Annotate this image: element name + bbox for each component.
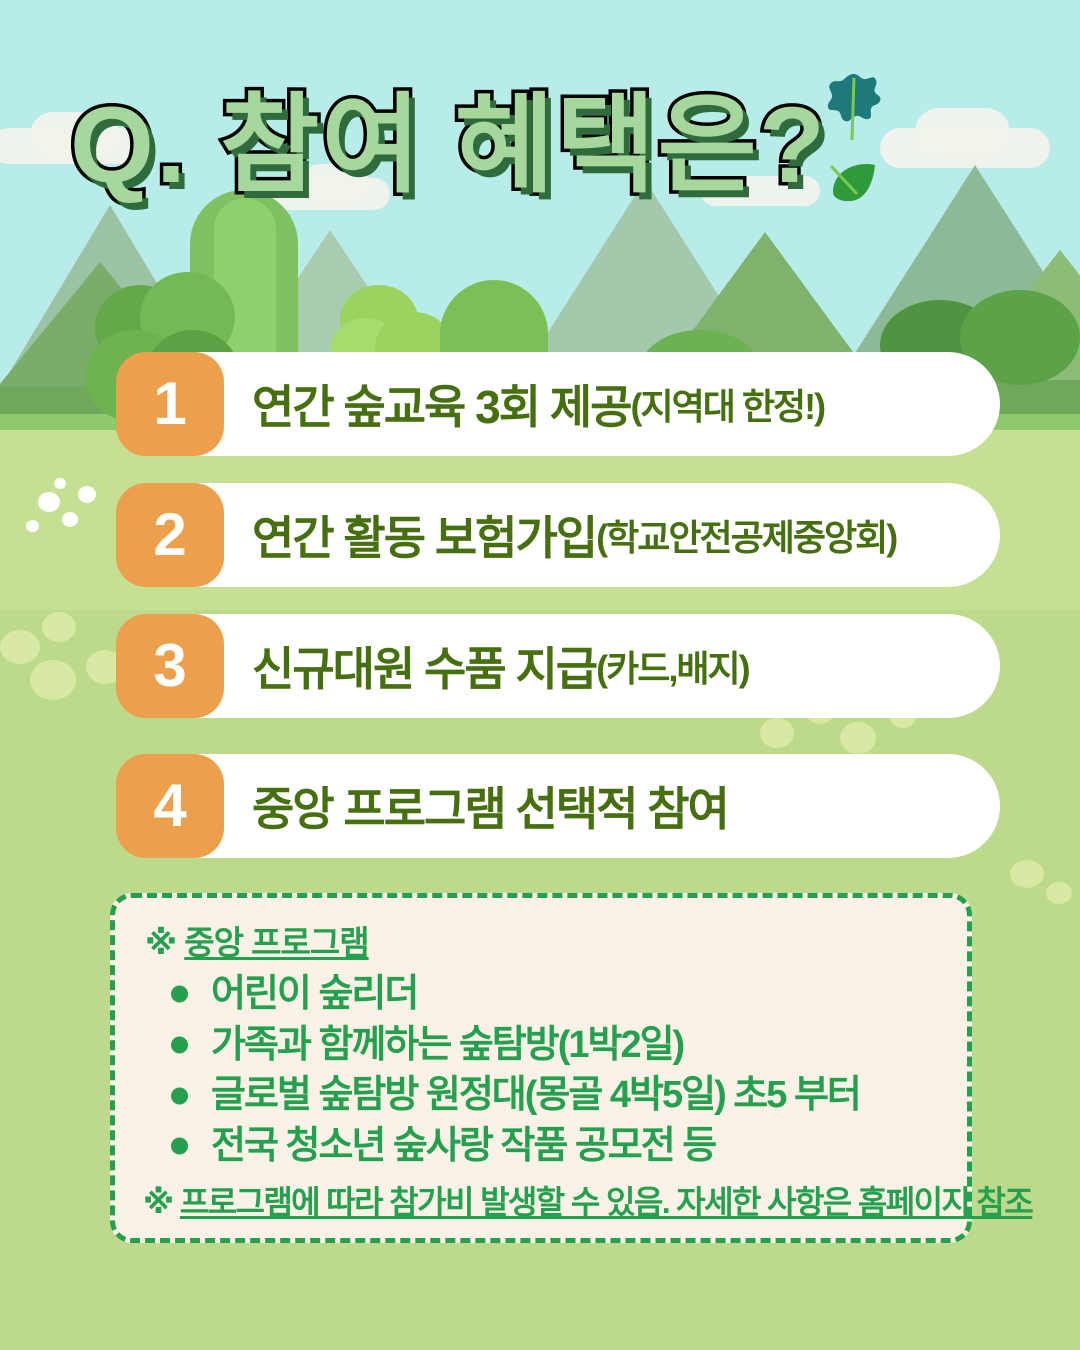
small-leaf-icon xyxy=(823,152,881,204)
list-item: 어린이 숲리더 xyxy=(167,970,941,1019)
list-item-label: 어린이 숲리더 xyxy=(211,973,417,1015)
benefit-sub-text: (지역대 한정!) xyxy=(630,378,824,430)
benefit-number-badge: 3 xyxy=(116,614,224,718)
list-item-label: 전국 청소년 숲사랑 작품 공모전 등 xyxy=(211,1125,715,1167)
note-heading-text: 중앙 프로그램 xyxy=(184,924,368,961)
benefit-text: 연간 활동 보험가입(학교안전공제중앙회) xyxy=(252,483,896,587)
benefit-row: 1 연간 숲교육 3회 제공(지역대 한정!) xyxy=(0,352,1080,456)
note-footer: ※ 프로그램에 따라 참가비 발생할 수 있음. 자세한 사항은 홈페이지 참조 xyxy=(143,1177,941,1223)
benefit-row: 4 중앙 프로그램 선택적 참여 xyxy=(0,754,1080,858)
note-box: ※ 중앙 프로그램 어린이 숲리더 가족과 함께하는 숲탐방(1박2일) 글로벌… xyxy=(110,893,972,1243)
benefit-text: 신규대원 수품 지급(카드,배지) xyxy=(252,614,749,718)
benefit-sub-text: (카드,배지) xyxy=(596,640,748,692)
benefit-number-badge: 4 xyxy=(116,754,224,858)
benefit-row: 3 신규대원 수품 지급(카드,배지) xyxy=(0,614,1080,718)
benefit-number-badge: 2 xyxy=(116,483,224,587)
note-heading: ※ 중앙 프로그램 xyxy=(145,916,941,964)
benefit-row: 2 연간 활동 보험가입(학교안전공제중앙회) xyxy=(0,483,1080,587)
poster-root: Q. 참여 혜택은? 1 연간 숲교육 3회 제공(지역대 한정!) 2 연간 … xyxy=(0,0,1080,1350)
benefit-main-text: 신규대원 수품 지급 xyxy=(252,633,596,699)
bullet-icon xyxy=(171,986,188,1003)
note-heading-mark: ※ xyxy=(145,924,176,961)
bullet-icon xyxy=(171,1087,188,1104)
list-item: 전국 청소년 숲사랑 작품 공모전 등 xyxy=(167,1122,941,1171)
note-footer-text: 프로그램에 따라 참가비 발생할 수 있음. 자세한 사항은 홈페이지 참조 xyxy=(180,1184,1032,1220)
list-item: 글로벌 숲탐방 원정대(몽골 4박5일) 초5 부터 xyxy=(167,1071,941,1120)
note-footer-mark: ※ xyxy=(143,1184,173,1220)
list-item-label: 가족과 함께하는 숲탐방(1박2일) xyxy=(211,1024,683,1066)
benefits-list: 1 연간 숲교육 3회 제공(지역대 한정!) 2 연간 활동 보험가입(학교안… xyxy=(0,352,1080,885)
benefit-number-badge: 1 xyxy=(116,352,224,456)
benefit-text: 연간 숲교육 3회 제공(지역대 한정!) xyxy=(252,352,824,456)
benefit-main-text: 중앙 프로그램 선택적 참여 xyxy=(252,773,728,839)
benefit-text: 중앙 프로그램 선택적 참여 xyxy=(252,754,728,858)
list-item-label: 글로벌 숲탐방 원정대(몽골 4박5일) 초5 부터 xyxy=(211,1074,860,1116)
bullet-icon xyxy=(171,1036,188,1053)
benefit-main-text: 연간 숲교육 3회 제공 xyxy=(252,371,630,437)
cloud-icon xyxy=(915,108,1010,156)
note-item-list: 어린이 숲리더 가족과 함께하는 숲탐방(1박2일) 글로벌 숲탐방 원정대(몽… xyxy=(141,970,941,1171)
benefit-main-text: 연간 활동 보험가입 xyxy=(252,502,596,568)
list-item: 가족과 함께하는 숲탐방(1박2일) xyxy=(167,1021,941,1070)
benefit-sub-text: (학교안전공제중앙회) xyxy=(596,509,896,561)
page-title: Q. 참여 혜택은? xyxy=(70,58,827,214)
oak-leaf-icon xyxy=(818,68,890,148)
bullet-icon xyxy=(171,1138,188,1155)
